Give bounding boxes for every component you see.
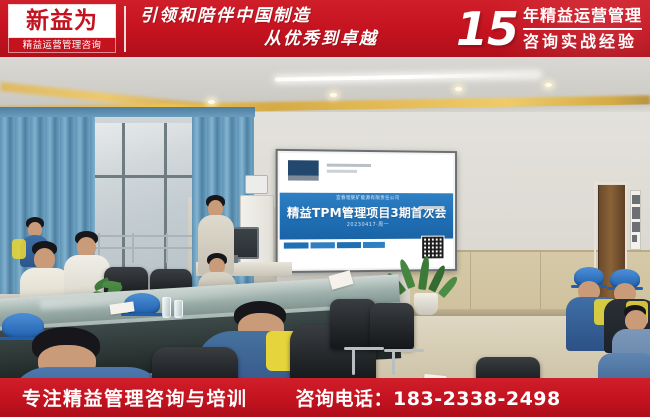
slide-meta-line — [327, 170, 357, 173]
tagline-line-1: 引领和陪伴中国制造 — [136, 5, 386, 28]
chair-leg — [392, 351, 395, 375]
chair-leg — [352, 349, 355, 375]
water-bottle — [162, 297, 171, 318]
logo-subtitle: 精益运营管理咨询 — [8, 38, 116, 53]
wall-clock-icon — [245, 175, 268, 194]
office-chair — [476, 357, 540, 378]
chair-leg — [384, 349, 424, 352]
experience-line-2: 咨询实战经验 — [523, 30, 642, 53]
slide-meta-line — [327, 164, 371, 167]
downlight-icon — [330, 93, 337, 97]
attendee-foreground-left — [14, 327, 154, 378]
window-mullion — [92, 175, 200, 178]
downlight-icon — [455, 87, 462, 91]
slide-date: 20230417·周一 — [280, 221, 453, 228]
attendee-right-4 — [598, 353, 650, 378]
company-logo: 新益为 精益运营管理咨询 — [8, 4, 116, 53]
downlight-icon — [545, 83, 552, 87]
slide-logo-subtitle — [288, 175, 319, 180]
office-chair — [370, 303, 414, 349]
logo-mark: 新益为 — [8, 4, 116, 38]
slide-note-line — [419, 206, 444, 209]
presentation-slide: 宜春钽铌矿能源有限责任公司 精益TPM管理项目3期首次会 20230417·周一 — [280, 153, 453, 269]
logo-name: 新益为 — [26, 10, 98, 33]
footer-phone-label: 咨询电话： — [296, 388, 394, 410]
footer-banner: 专注精益管理咨询与培训 咨询电话：183-2338-2498 — [0, 378, 650, 417]
curtain-rail — [0, 107, 255, 117]
header-divider — [124, 6, 126, 52]
slide-tab-strip — [284, 242, 385, 249]
header-tagline: 引领和陪伴中国制造 从优秀到卓越 — [136, 5, 386, 53]
downlight-icon — [208, 100, 215, 104]
meeting-photo: 宜春钽铌矿能源有限责任公司 精益TPM管理项目3期首次会 20230417·周一 — [0, 57, 650, 378]
office-chair — [152, 347, 238, 378]
chair-leg — [344, 347, 384, 350]
wall-poster — [630, 190, 641, 250]
slide-company: 宜春钽铌矿能源有限责任公司 — [280, 195, 453, 201]
footer-phone-number: 183-2338-2498 — [393, 388, 561, 410]
window-guard-rail — [92, 233, 202, 265]
water-bottle — [174, 300, 183, 318]
footer-phone: 咨询电话：183-2338-2498 — [296, 384, 561, 411]
slide-logo-icon — [288, 160, 319, 175]
experience-badge: 15 年精益运营管理 咨询实战经验 — [456, 2, 642, 55]
experience-years-number: 15 — [456, 6, 518, 52]
experience-line-1: 年精益运营管理 — [523, 5, 642, 30]
tagline-line-2: 从优秀到卓越 — [136, 28, 386, 51]
promo-image-root: 新益为 精益运营管理咨询 引领和陪伴中国制造 从优秀到卓越 15 年精益运营管理… — [0, 0, 650, 417]
header-banner: 新益为 精益运营管理咨询 引领和陪伴中国制造 从优秀到卓越 15 年精益运营管理… — [0, 0, 650, 57]
footer-slogan: 专注精益管理咨询与培训 — [22, 384, 248, 411]
